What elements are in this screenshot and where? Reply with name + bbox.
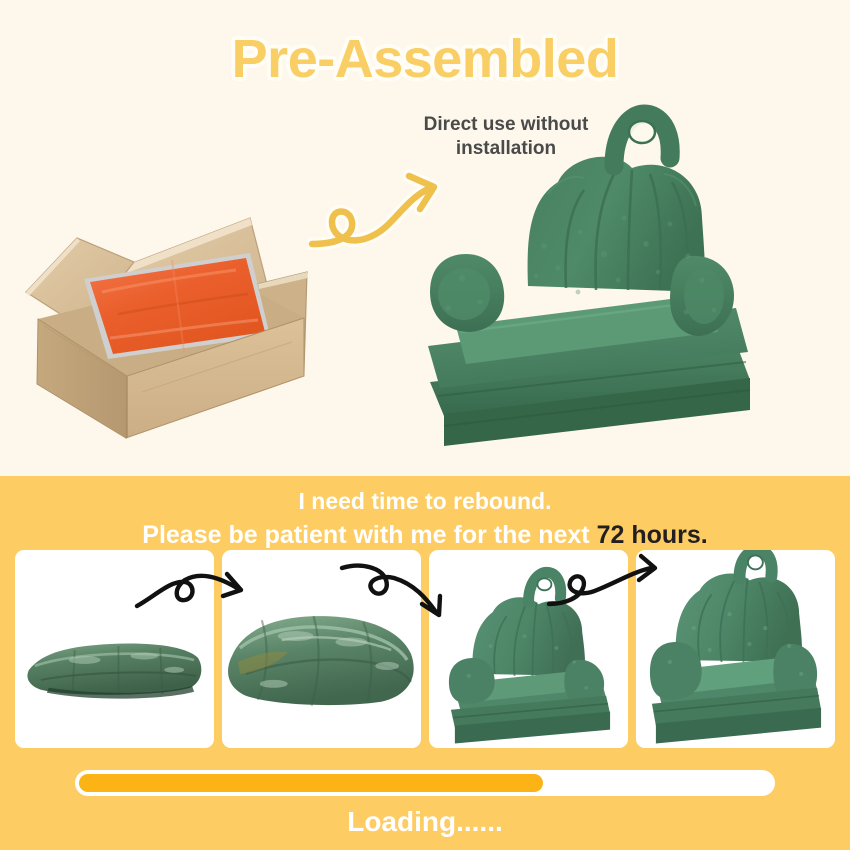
loading-progress-fill [79,774,543,792]
list-item [429,550,628,748]
assembled-green-shell-back-kids-sofa-chair [418,96,758,446]
page-title: Pre-Assembled [0,28,850,90]
compressed-flat-foam-slab [15,550,214,748]
open-shipping-box-with-orange-vacuum-package [22,196,352,444]
pre-assembled-section: Pre-Assembled Direct use without install… [0,0,850,476]
partially-expanded-wrapped-foam [222,550,421,748]
loading-status-label: Loading...... [0,806,850,838]
banner-line-2: Please be patient with me for the next 7… [0,518,850,553]
banner-message: I need time to rebound. Please be patien… [0,486,850,552]
rebound-hours-highlight: 72 hours. [597,521,708,549]
product-infographic: Pre-Assembled Direct use without install… [0,0,850,850]
banner-line-2-prefix: Please be patient with me for the next [142,521,596,549]
fully-rebounded-chair [636,550,835,748]
list-item [15,550,214,748]
mostly-rebounded-chair [429,550,628,748]
banner-line-1: I need time to rebound. [0,486,850,518]
rebound-step-cards [15,550,835,748]
loading-progress-bar [75,770,775,796]
rebound-time-banner: I need time to rebound. Please be patien… [0,476,850,850]
list-item [222,550,421,748]
list-item [636,550,835,748]
